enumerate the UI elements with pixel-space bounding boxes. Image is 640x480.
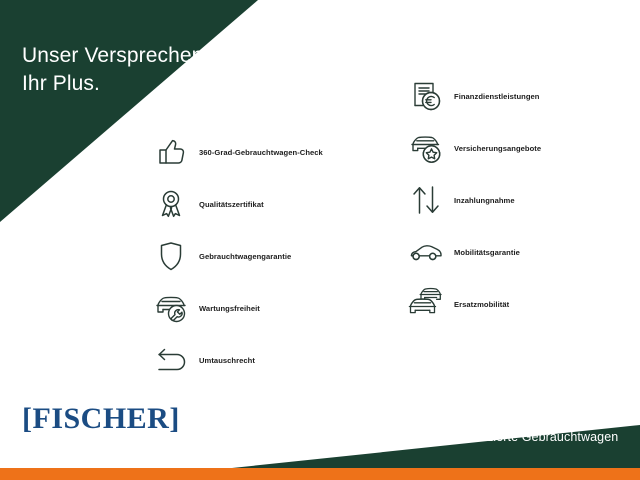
feature-label: Mobilitätsgarantie [454, 248, 520, 257]
feature-label: Ersatzmobilität [454, 300, 509, 309]
feature-item-ersatzmobilitaet: Ersatzmobilität [398, 278, 541, 330]
brand-subtitle: Zertifizierte Gebrauchtwagen [455, 430, 618, 444]
feature-item-finanzdienstleistungen: Finanzdienstleistungen [398, 70, 541, 122]
thumbs-up-icon [143, 132, 199, 172]
feature-list-left: 360-Grad-Gebrauchtwagen-Check Qualitätsz… [143, 126, 323, 386]
brand-wordmark: SKODAPlus [455, 408, 618, 428]
feature-label: Versicherungsangebote [454, 144, 541, 153]
headline-line-2: Ihr Plus. [22, 70, 209, 98]
feature-item-gebrauchtwagen-check: 360-Grad-Gebrauchtwagen-Check [143, 126, 323, 178]
feature-item-gebrauchtwagengarantie: Gebrauchtwagengarantie [143, 230, 323, 282]
car-side-icon [398, 232, 454, 272]
orange-footer-bar [0, 468, 640, 480]
shield-icon [143, 236, 199, 276]
car-wrench-icon [143, 288, 199, 328]
feature-item-versicherungsangebote: Versicherungsangebote [398, 122, 541, 174]
feature-list-right: Finanzdienstleistungen Versicherungsange… [398, 70, 541, 330]
feature-label: Gebrauchtwagengarantie [199, 252, 291, 261]
up-down-arrows-icon [398, 180, 454, 220]
brand-mark-text: SKODA [455, 407, 532, 428]
feature-item-mobilitaetsgarantie: Mobilitätsgarantie [398, 226, 541, 278]
dealer-logo: [FISCHER] [22, 404, 180, 434]
feature-label: Umtauschrecht [199, 356, 255, 365]
return-arrow-icon [143, 340, 199, 380]
brand-plus-text: Plus [536, 407, 574, 428]
feature-item-qualitaetszertifikat: Qualitätszertifikat [143, 178, 323, 230]
promo-banner: Unser Versprechen. Ihr Plus. 360-Grad-Ge… [0, 0, 640, 480]
feature-item-wartungsfreiheit: Wartungsfreiheit [143, 282, 323, 334]
feature-label: Finanzdienstleistungen [454, 92, 539, 101]
headline-line-1: Unser Versprechen. [22, 44, 209, 67]
feature-label: Inzahlungnahme [454, 196, 515, 205]
award-rosette-icon [143, 184, 199, 224]
feature-item-umtauschrecht: Umtauschrecht [143, 334, 323, 386]
feature-label: Wartungsfreiheit [199, 304, 260, 313]
document-euro-icon [398, 76, 454, 116]
feature-item-inzahlungnahme: Inzahlungnahme [398, 174, 541, 226]
feature-label: Qualitätszertifikat [199, 200, 264, 209]
car-star-icon [398, 128, 454, 168]
page-title: Unser Versprechen. Ihr Plus. [22, 14, 209, 126]
two-cars-icon [398, 283, 454, 325]
brand-logo: SKODAPlus Zertifizierte Gebrauchtwagen [455, 408, 618, 444]
feature-label: 360-Grad-Gebrauchtwagen-Check [199, 148, 323, 157]
